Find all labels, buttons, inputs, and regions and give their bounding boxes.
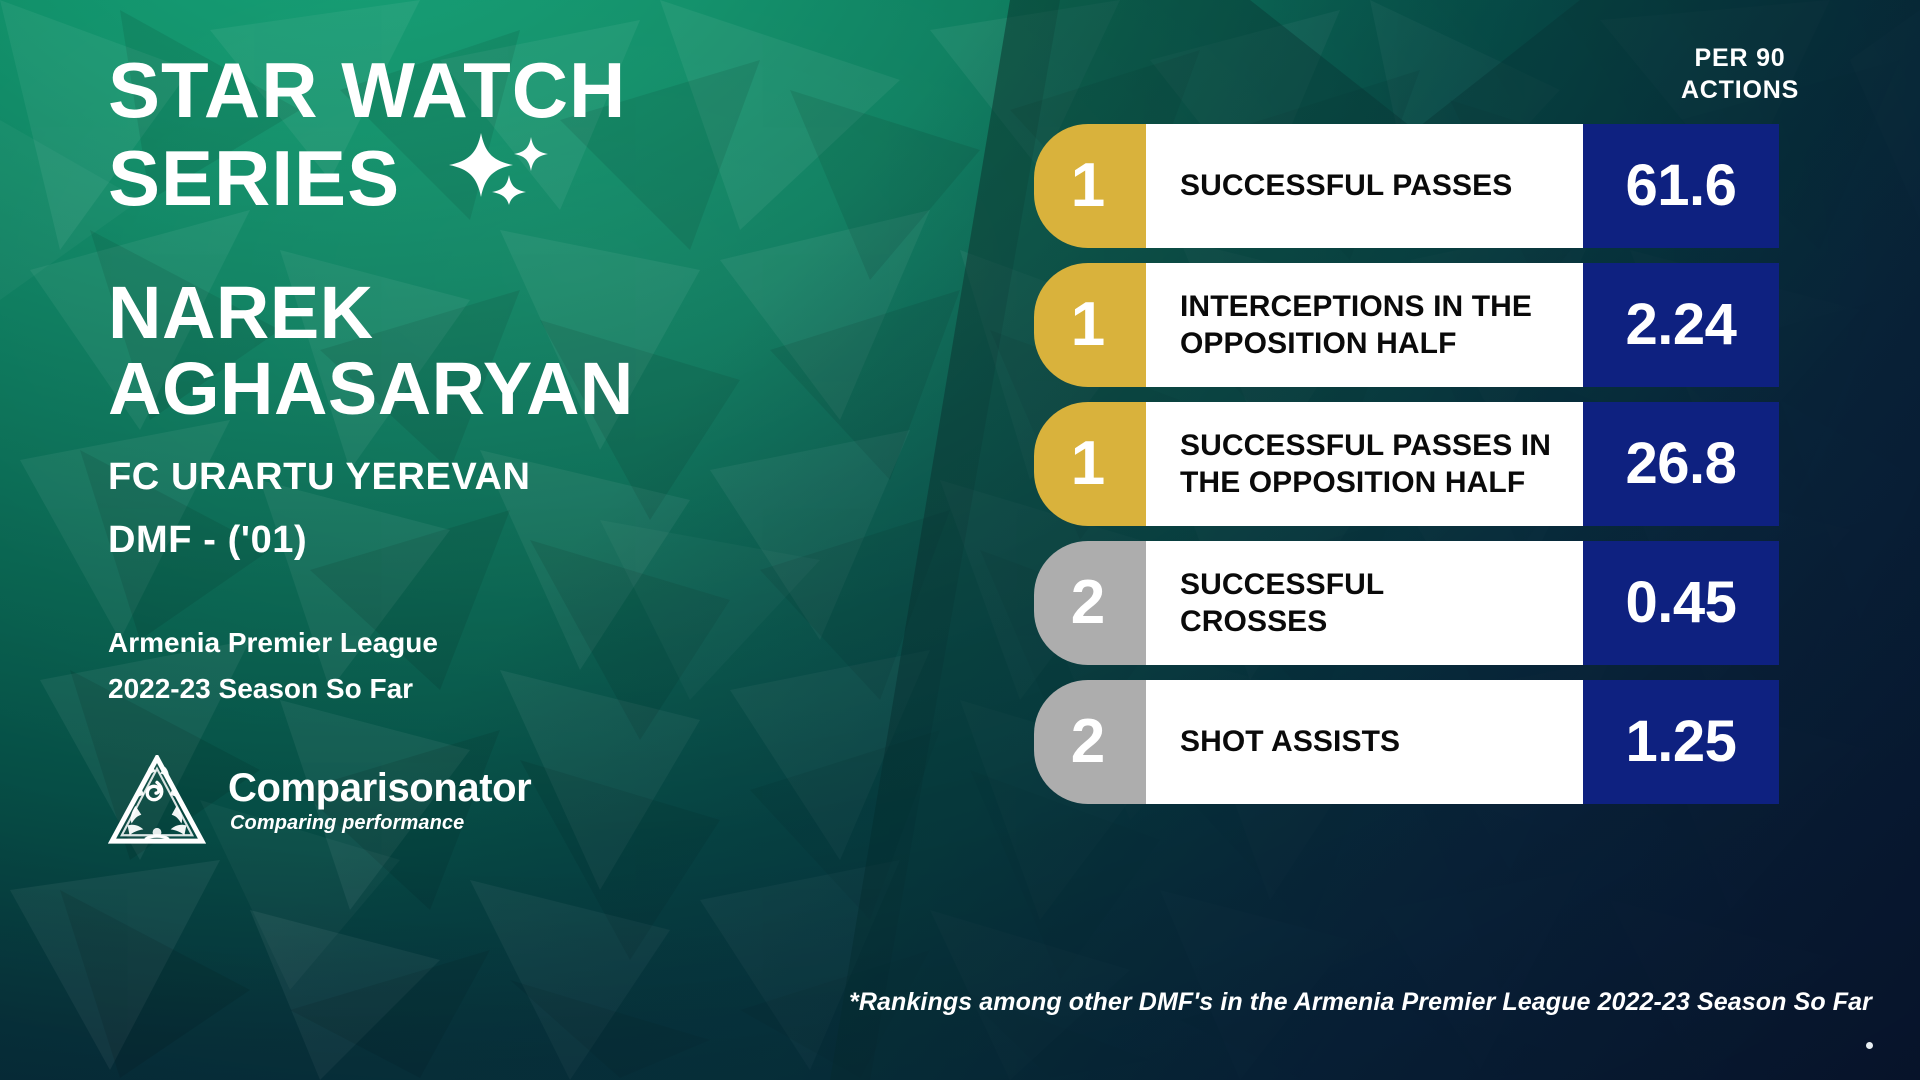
rank-badge: 2 [1034,541,1146,665]
rank-value: 2 [1071,572,1105,634]
comparisonator-logo-icon [108,755,206,847]
stat-value-text: 1.25 [1626,713,1737,771]
stat-rows-list: 1 SUCCESSFUL PASSES 61.6 1 INTERCEPTIONS… [1034,124,1844,804]
rank-value: 1 [1071,294,1105,356]
team-name: FC URARTU YEREVAN [108,456,868,499]
stat-value-box: 61.6 [1583,124,1779,248]
stat-metric-label: SHOT ASSISTS [1146,680,1583,804]
stat-metric-text: SUCCESSFUL PASSES INTHE OPPOSITION HALF [1180,427,1551,501]
per-90-header-line2: ACTIONS [1642,74,1838,106]
player-name: NAREK AGHASARYAN [108,275,868,426]
brand-tagline: Comparing performance [230,812,531,835]
rank-value: 1 [1071,433,1105,495]
season-label: 2022-23 Season So Far [108,666,868,711]
sparkles-icon [449,131,549,217]
brand-text: Comparisonator Comparing performance [228,767,531,834]
player-position: DMF - ('01) [108,519,868,562]
stat-metric-label: SUCCESSFUL PASSES [1146,124,1583,248]
stat-metric-label: SUCCESSFUL PASSES INTHE OPPOSITION HALF [1146,402,1583,526]
league-name: Armenia Premier League [108,620,868,665]
stat-metric-text: SHOT ASSISTS [1180,723,1400,760]
player-first-name: NAREK [108,275,868,350]
stat-value-box: 2.24 [1583,263,1779,387]
rank-badge: 1 [1034,263,1146,387]
stat-row: 1 SUCCESSFUL PASSES 61.6 [1034,124,1779,248]
stat-value-text: 0.45 [1626,574,1737,632]
stat-metric-text: SUCCESSFULCROSSES [1180,566,1384,640]
player-last-name: AGHASARYAN [108,351,868,426]
stat-row: 2 SHOT ASSISTS 1.25 [1034,680,1779,804]
stat-value-box: 0.45 [1583,541,1779,665]
per-90-header-line1: PER 90 [1642,42,1838,74]
corner-dot [1866,1042,1873,1049]
stat-metric-text: INTERCEPTIONS IN THEOPPOSITION HALF [1180,288,1532,362]
stat-value-box: 26.8 [1583,402,1779,526]
stat-metric-label: SUCCESSFULCROSSES [1146,541,1583,665]
series-title: STAR WATCH SERIES [108,52,868,217]
stat-row: 1 SUCCESSFUL PASSES INTHE OPPOSITION HAL… [1034,402,1779,526]
stat-value-text: 61.6 [1626,157,1737,215]
stat-value-text: 26.8 [1626,435,1737,493]
rank-badge: 2 [1034,680,1146,804]
stat-metric-text: SUCCESSFUL PASSES [1180,167,1512,204]
stat-row: 2 SUCCESSFULCROSSES 0.45 [1034,541,1779,665]
league-info: Armenia Premier League 2022-23 Season So… [108,620,868,711]
stat-value-text: 2.24 [1626,296,1737,354]
per-90-actions-header: PER 90 ACTIONS [1642,42,1838,106]
rankings-footnote: *Rankings among other DMF's in the Armen… [0,988,1872,1017]
rank-badge: 1 [1034,124,1146,248]
stat-metric-label: INTERCEPTIONS IN THEOPPOSITION HALF [1146,263,1583,387]
brand-name: Comparisonator [228,767,531,809]
series-title-line1: STAR WATCH [108,52,868,129]
series-title-line2-row: SERIES [108,129,868,217]
left-info-panel: STAR WATCH SERIES NAREK AGHASARYAN FC UR… [108,52,868,1032]
rank-value: 1 [1071,155,1105,217]
stats-panel: PER 90 ACTIONS 1 SUCCESSFUL PASSES 61.6 … [1034,42,1844,804]
rank-badge: 1 [1034,402,1146,526]
stat-value-box: 1.25 [1583,680,1779,804]
brand-block: Comparisonator Comparing performance [108,755,868,847]
series-title-line2: SERIES [108,134,400,222]
rank-value: 2 [1071,711,1105,773]
stat-row: 1 INTERCEPTIONS IN THEOPPOSITION HALF 2.… [1034,263,1779,387]
